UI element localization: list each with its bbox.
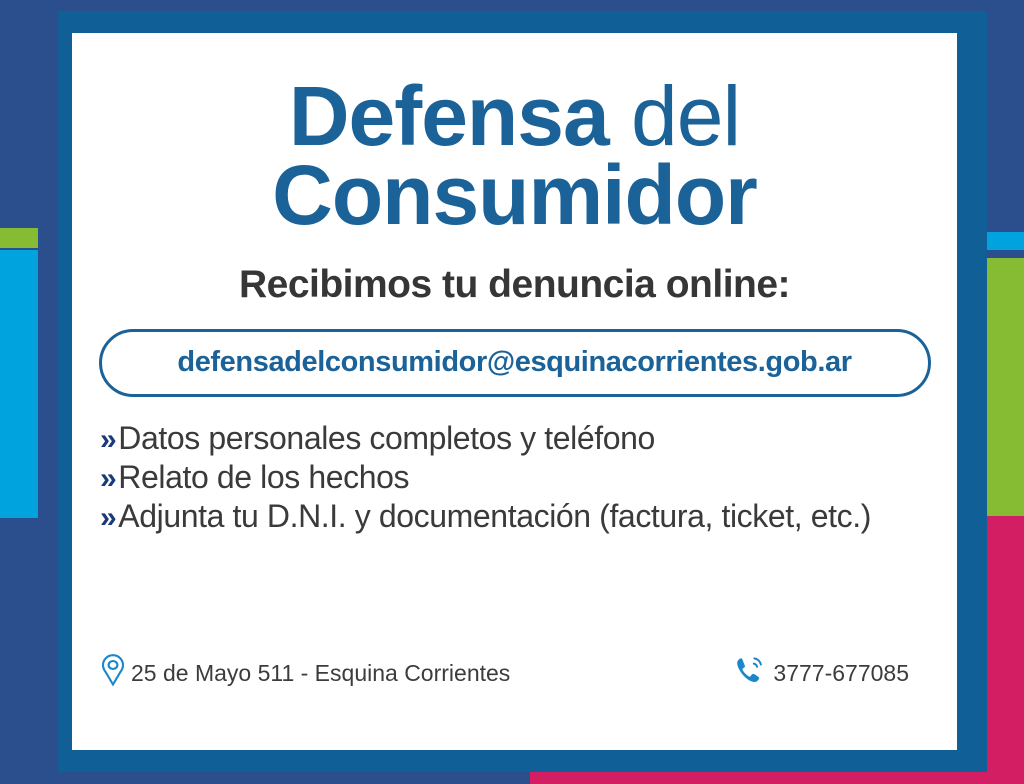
footer-phone-label: 3777-677085 (773, 660, 909, 687)
list-item-label: Datos personales completos y teléfono (118, 419, 655, 458)
footer-address-label: 25 de Mayo 511 - Esquina Corrientes (131, 660, 510, 687)
requirements-list: » Datos personales completos y teléfono … (98, 419, 931, 536)
list-item: » Datos personales completos y teléfono (100, 419, 931, 458)
poster-card: Defensa del Consumidor Recibimos tu denu… (72, 33, 957, 750)
accent-band-right-cyan (987, 232, 1024, 250)
accent-band-left-green (0, 228, 38, 248)
accent-band-left-cyan (0, 250, 38, 518)
title-word-consumidor: Consumidor (272, 148, 757, 242)
phone-ringing-icon (734, 654, 766, 692)
email-pill[interactable]: defensadelconsumidor@esquinacorrientes.g… (99, 329, 931, 397)
double-chevron-icon: » (100, 503, 116, 533)
double-chevron-icon: » (100, 464, 116, 494)
list-item: » Relato de los hechos (100, 458, 931, 497)
footer-phone: 3777-677085 (734, 654, 909, 692)
list-item-label: Adjunta tu D.N.I. y documentación (factu… (118, 497, 871, 536)
double-chevron-icon: » (100, 425, 116, 455)
list-item-label: Relato de los hechos (118, 458, 409, 497)
subtitle: Recibimos tu denuncia online: (98, 263, 931, 307)
list-item: » Adjunta tu D.N.I. y documentación (fac… (100, 497, 931, 536)
footer: 25 de Mayo 511 - Esquina Corrientes 3777… (98, 652, 931, 694)
footer-address: 25 de Mayo 511 - Esquina Corrientes (98, 652, 510, 694)
accent-band-right-green (987, 258, 1024, 516)
page-title: Defensa del Consumidor (98, 77, 931, 235)
email-address[interactable]: defensadelconsumidor@esquinacorrientes.g… (177, 346, 851, 379)
location-pin-icon (98, 652, 128, 694)
accent-band-right-pink (987, 516, 1024, 784)
